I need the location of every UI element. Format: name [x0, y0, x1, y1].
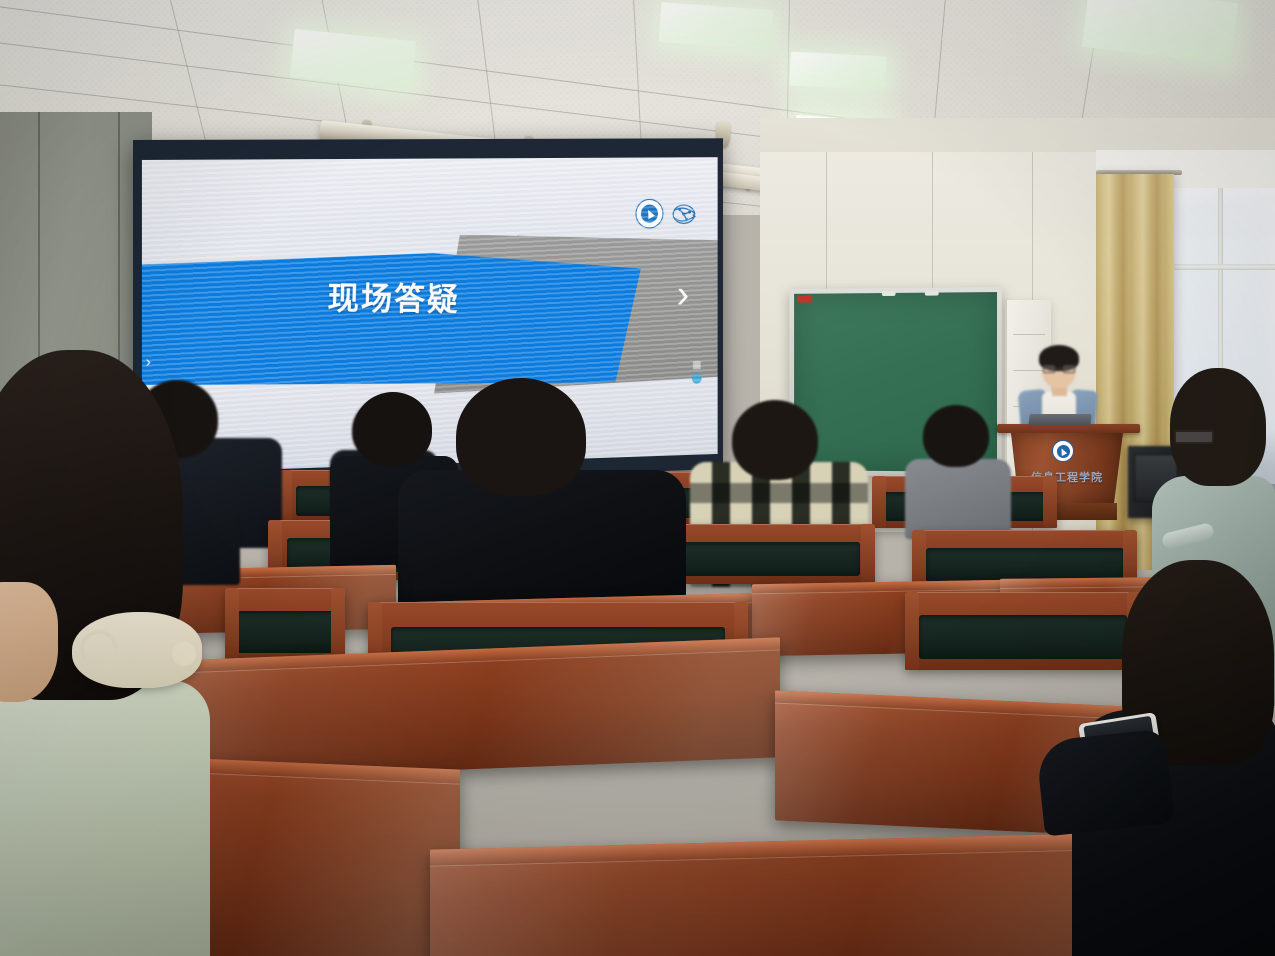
university-emblem-logo: [636, 199, 665, 229]
bench-end-cap: [872, 476, 886, 528]
slide-presenter-controls[interactable]: [692, 360, 702, 383]
bench-leather-pad: [232, 611, 338, 654]
blackboard-red-tag: [797, 296, 812, 303]
bench-end-cap: [331, 588, 345, 664]
blackboard-clip: [925, 291, 939, 296]
student-glasses-icon: [1174, 430, 1214, 444]
student-head: [456, 378, 586, 496]
slide-control-square[interactable]: [692, 360, 700, 369]
bench-row-near-left[interactable]: [225, 588, 345, 664]
student-top-torso: [0, 680, 210, 956]
ceiling-light-panel: [789, 52, 887, 91]
blackboard-clip: [882, 291, 896, 296]
plush-detail: [172, 642, 196, 666]
presenter-glasses-icon: [1043, 365, 1075, 373]
bench-end-cap: [1043, 476, 1057, 528]
plush-headrest[interactable]: [72, 612, 202, 688]
student-torso: [905, 459, 1011, 539]
bench-end-cap: [905, 592, 919, 670]
cabinet-line: [1013, 334, 1045, 335]
chevron-right-icon: ›: [676, 274, 690, 314]
student-mid-row-center-2: [398, 378, 688, 628]
slide-logo-group: [636, 199, 699, 230]
student-hand-sleeve: [1035, 728, 1174, 836]
window-mullion: [1162, 264, 1275, 270]
tech-network-logo: [670, 200, 699, 228]
slide-control-dot[interactable]: [692, 373, 702, 384]
student-head: [923, 405, 989, 467]
podium-laptop[interactable]: [1028, 414, 1091, 426]
lecture-hall-photo: 现场答疑 › ›: [0, 0, 1275, 956]
student-head: [1170, 368, 1266, 486]
podium-university-emblem-icon: [1052, 440, 1074, 462]
bench-end-cap: [861, 524, 875, 584]
bench-end-cap: [225, 588, 239, 664]
student-head: [732, 400, 818, 480]
plush-detail: [80, 630, 118, 670]
ceiling-light-panel: [659, 2, 774, 50]
student-glasses-gray: [905, 405, 1013, 530]
slide-title-text: 现场答疑: [327, 272, 460, 320]
